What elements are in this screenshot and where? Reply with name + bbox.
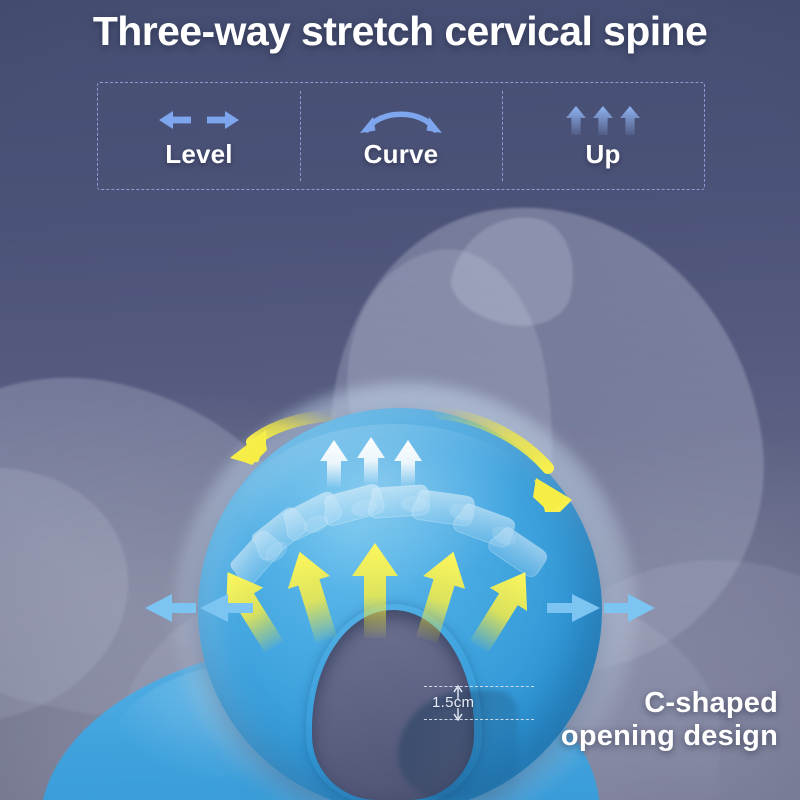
arrow-overlay (0, 0, 800, 800)
yellow-curved-arrow-right (440, 413, 572, 512)
callout-line-2: opening design (561, 720, 778, 752)
yellow-curved-arrow-left (230, 415, 330, 465)
dimension-line-bottom (424, 719, 534, 720)
dimension-line-top (424, 686, 534, 687)
white-up-arrows (320, 437, 422, 487)
callout-line-1: C-shaped (561, 687, 778, 719)
c-shape-callout: C-shaped opening design (561, 687, 778, 752)
product-infographic: Three-way stretch cervical spine Level (0, 0, 800, 800)
dimension-label: 1.5cm (432, 694, 474, 711)
blue-right-arrows (547, 594, 655, 622)
yellow-fan-arrows (209, 543, 544, 658)
